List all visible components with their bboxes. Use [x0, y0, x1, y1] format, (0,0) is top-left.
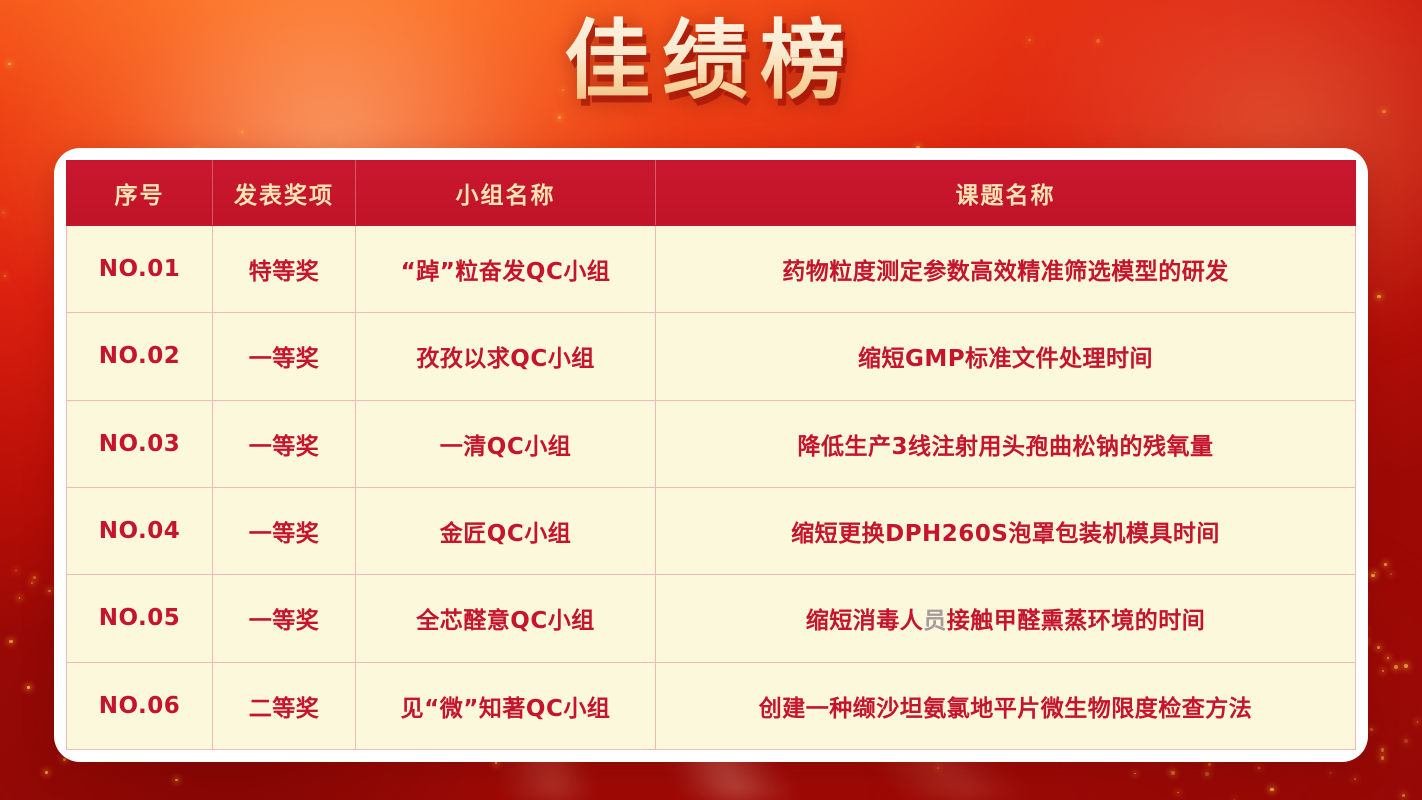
topic-text: 接触甲醛熏蒸环境的时间: [947, 608, 1206, 634]
cell-no: NO.01: [67, 226, 213, 313]
cell-team: 见“微”知著QC小组: [356, 662, 656, 749]
topic-muted-char: 员: [923, 608, 947, 634]
slide-root: 佳绩榜 序号 发表奖项 小组名称 课题名称 NO.01特等奖“踔”粒奋发QC小组…: [0, 0, 1422, 800]
table-row: NO.03一等奖一清QC小组降低生产3线注射用头孢曲松钠的残氧量: [67, 400, 1356, 487]
results-table: 序号 发表奖项 小组名称 课题名称 NO.01特等奖“踔”粒奋发QC小组药物粒度…: [66, 160, 1356, 750]
cell-topic: 缩短消毒人员接触甲醛熏蒸环境的时间: [656, 575, 1356, 662]
cell-team: 孜孜以求QC小组: [356, 313, 656, 400]
cell-no: NO.05: [67, 575, 213, 662]
cell-no: NO.06: [67, 662, 213, 749]
cell-topic: 缩短GMP标准文件处理时间: [656, 313, 1356, 400]
cell-topic: 创建一种缬沙坦氨氯地平片微生物限度检查方法: [656, 662, 1356, 749]
cell-no: NO.04: [67, 487, 213, 574]
cell-team: 金匠QC小组: [356, 487, 656, 574]
cell-topic: 降低生产3线注射用头孢曲松钠的残氧量: [656, 400, 1356, 487]
cell-award: 一等奖: [213, 575, 356, 662]
table-row: NO.04一等奖金匠QC小组缩短更换DPH260S泡罩包装机模具时间: [67, 487, 1356, 574]
table-row: NO.06二等奖见“微”知著QC小组创建一种缬沙坦氨氯地平片微生物限度检查方法: [67, 662, 1356, 749]
cell-no: NO.03: [67, 400, 213, 487]
column-header-team: 小组名称: [356, 161, 656, 226]
table-header: 序号 发表奖项 小组名称 课题名称: [67, 161, 1356, 226]
cell-award: 一等奖: [213, 487, 356, 574]
table-row: NO.05一等奖全芯醛意QC小组缩短消毒人员接触甲醛熏蒸环境的时间: [67, 575, 1356, 662]
results-card: 序号 发表奖项 小组名称 课题名称 NO.01特等奖“踔”粒奋发QC小组药物粒度…: [54, 148, 1368, 762]
cell-topic: 缩短更换DPH260S泡罩包装机模具时间: [656, 487, 1356, 574]
topic-text: 缩短消毒人: [806, 608, 924, 634]
page-title: 佳绩榜: [0, 14, 1422, 109]
column-header-topic: 课题名称: [656, 161, 1356, 226]
cell-no: NO.02: [67, 313, 213, 400]
table-row: NO.01特等奖“踔”粒奋发QC小组药物粒度测定参数高效精准筛选模型的研发: [67, 226, 1356, 313]
table-header-row: 序号 发表奖项 小组名称 课题名称: [67, 161, 1356, 226]
table-row: NO.02一等奖孜孜以求QC小组缩短GMP标准文件处理时间: [67, 313, 1356, 400]
cell-topic: 药物粒度测定参数高效精准筛选模型的研发: [656, 226, 1356, 313]
column-header-award: 发表奖项: [213, 161, 356, 226]
cell-award: 一等奖: [213, 400, 356, 487]
cell-award: 特等奖: [213, 226, 356, 313]
column-header-no: 序号: [67, 161, 213, 226]
table-body: NO.01特等奖“踔”粒奋发QC小组药物粒度测定参数高效精准筛选模型的研发NO.…: [67, 226, 1356, 750]
cell-team: 全芯醛意QC小组: [356, 575, 656, 662]
cell-award: 二等奖: [213, 662, 356, 749]
cell-team: “踔”粒奋发QC小组: [356, 226, 656, 313]
cell-award: 一等奖: [213, 313, 356, 400]
cell-team: 一清QC小组: [356, 400, 656, 487]
